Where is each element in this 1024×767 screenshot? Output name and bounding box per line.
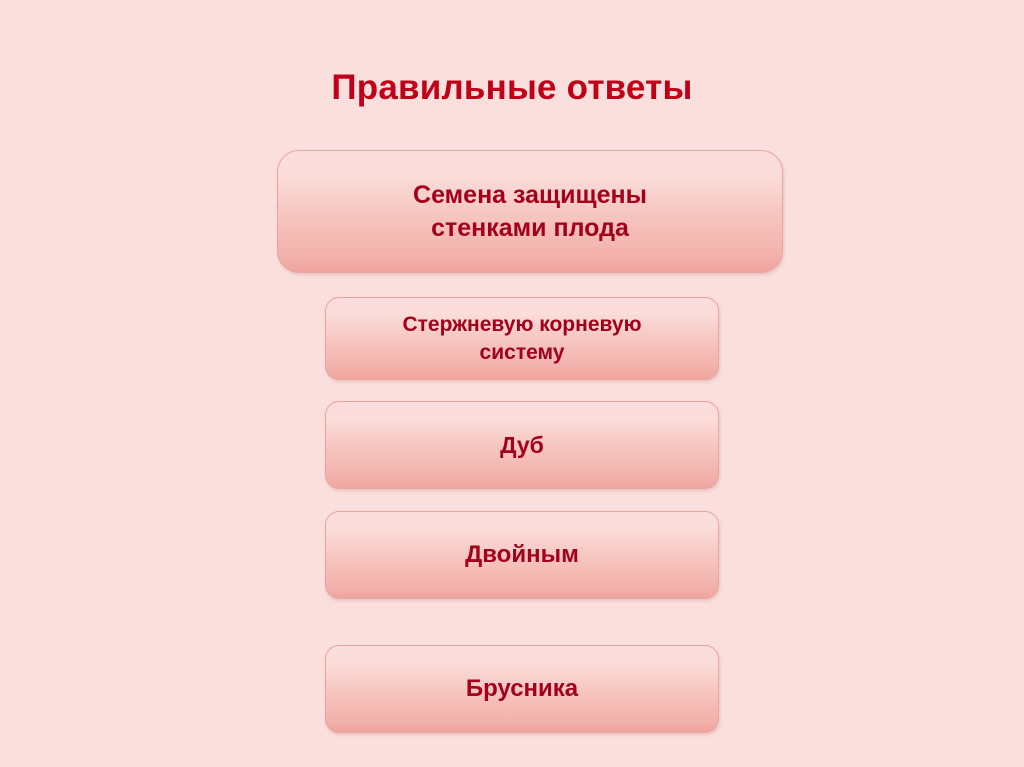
answer-box-5: Брусника	[325, 645, 719, 733]
answer-box-1: Семена защищены стенками плода	[277, 150, 783, 273]
slide: Правильные ответы Семена защищены стенка…	[0, 0, 1024, 767]
answer-box-3: Дуб	[325, 401, 719, 489]
answer-box-1-label: Семена защищены стенками плода	[399, 179, 661, 245]
answer-box-4: Двойным	[325, 511, 719, 599]
page-title: Правильные ответы	[0, 68, 1024, 108]
answer-box-4-label: Двойным	[451, 539, 593, 571]
answer-box-5-label: Брусника	[452, 673, 592, 705]
answer-box-3-label: Дуб	[486, 430, 558, 460]
answer-box-2: Стержневую корневую систему	[325, 297, 719, 380]
answer-box-2-label: Стержневую корневую систему	[388, 311, 655, 366]
